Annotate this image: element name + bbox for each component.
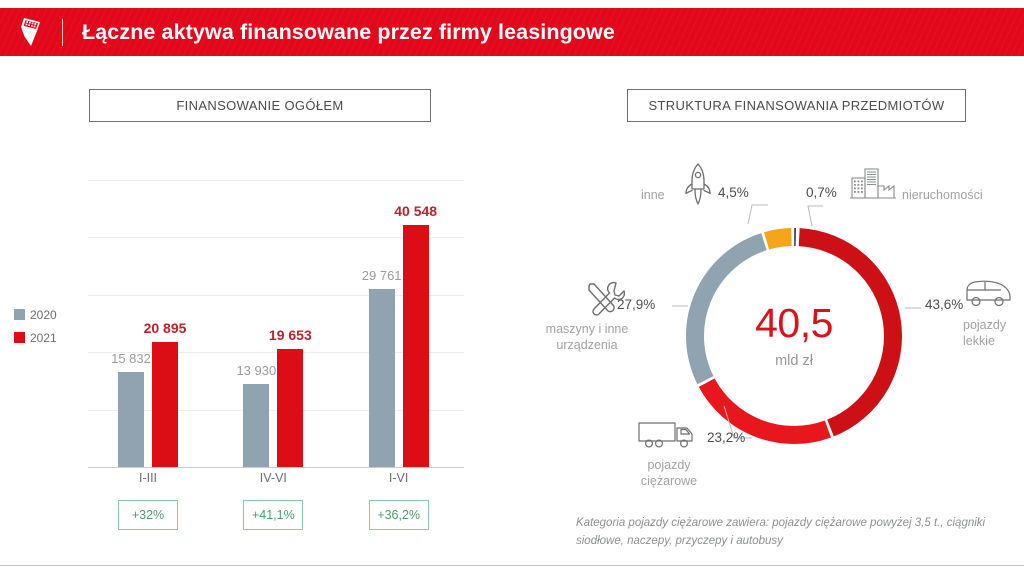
donut-label-pojazdy-ciezarowe: pojazdy ciężarowe [633,458,705,489]
donut-label-pojazdy-lekkie: pojazdy lekkie [963,318,1006,349]
footnote: Kategoria pojazdy ciężarowe zawiera: poj… [576,515,1016,551]
truck-icon [636,418,698,459]
buildings-icon [849,166,897,211]
donut-label-pojazdy-lekkie-line2: lekkie [963,334,1006,350]
donut-pct-pojazdy-lekkie: 43,6% [925,297,963,312]
donut-label-nieruchomosci: nieruchomości [902,188,983,204]
rocket-icon [681,160,715,215]
donut-pct-inne: 4,5% [718,185,749,200]
bottom-divider [0,565,1024,566]
donut-label-pojazdy-lekkie-line1: pojazdy [963,318,1006,334]
donut-leader-lines [0,0,1024,571]
donut-label-maszyny-line2: urządzenia [533,338,641,354]
donut-label-maszyny-line1: maszyny i inne [533,322,641,338]
donut-label-pojazdy-ciezarowe-line1: pojazdy [633,458,705,474]
donut-label-maszyny: maszyny i inne urządzenia [533,322,641,353]
van-icon [963,277,1015,318]
donut-pct-pojazdy-ciezarowe: 23,2% [707,430,745,445]
donut-label-pojazdy-ciezarowe-line2: ciężarowe [633,474,705,490]
tools-icon [583,279,625,322]
donut-pct-nieruchomosci: 0,7% [806,185,837,200]
donut-label-inne: inne [641,188,665,204]
